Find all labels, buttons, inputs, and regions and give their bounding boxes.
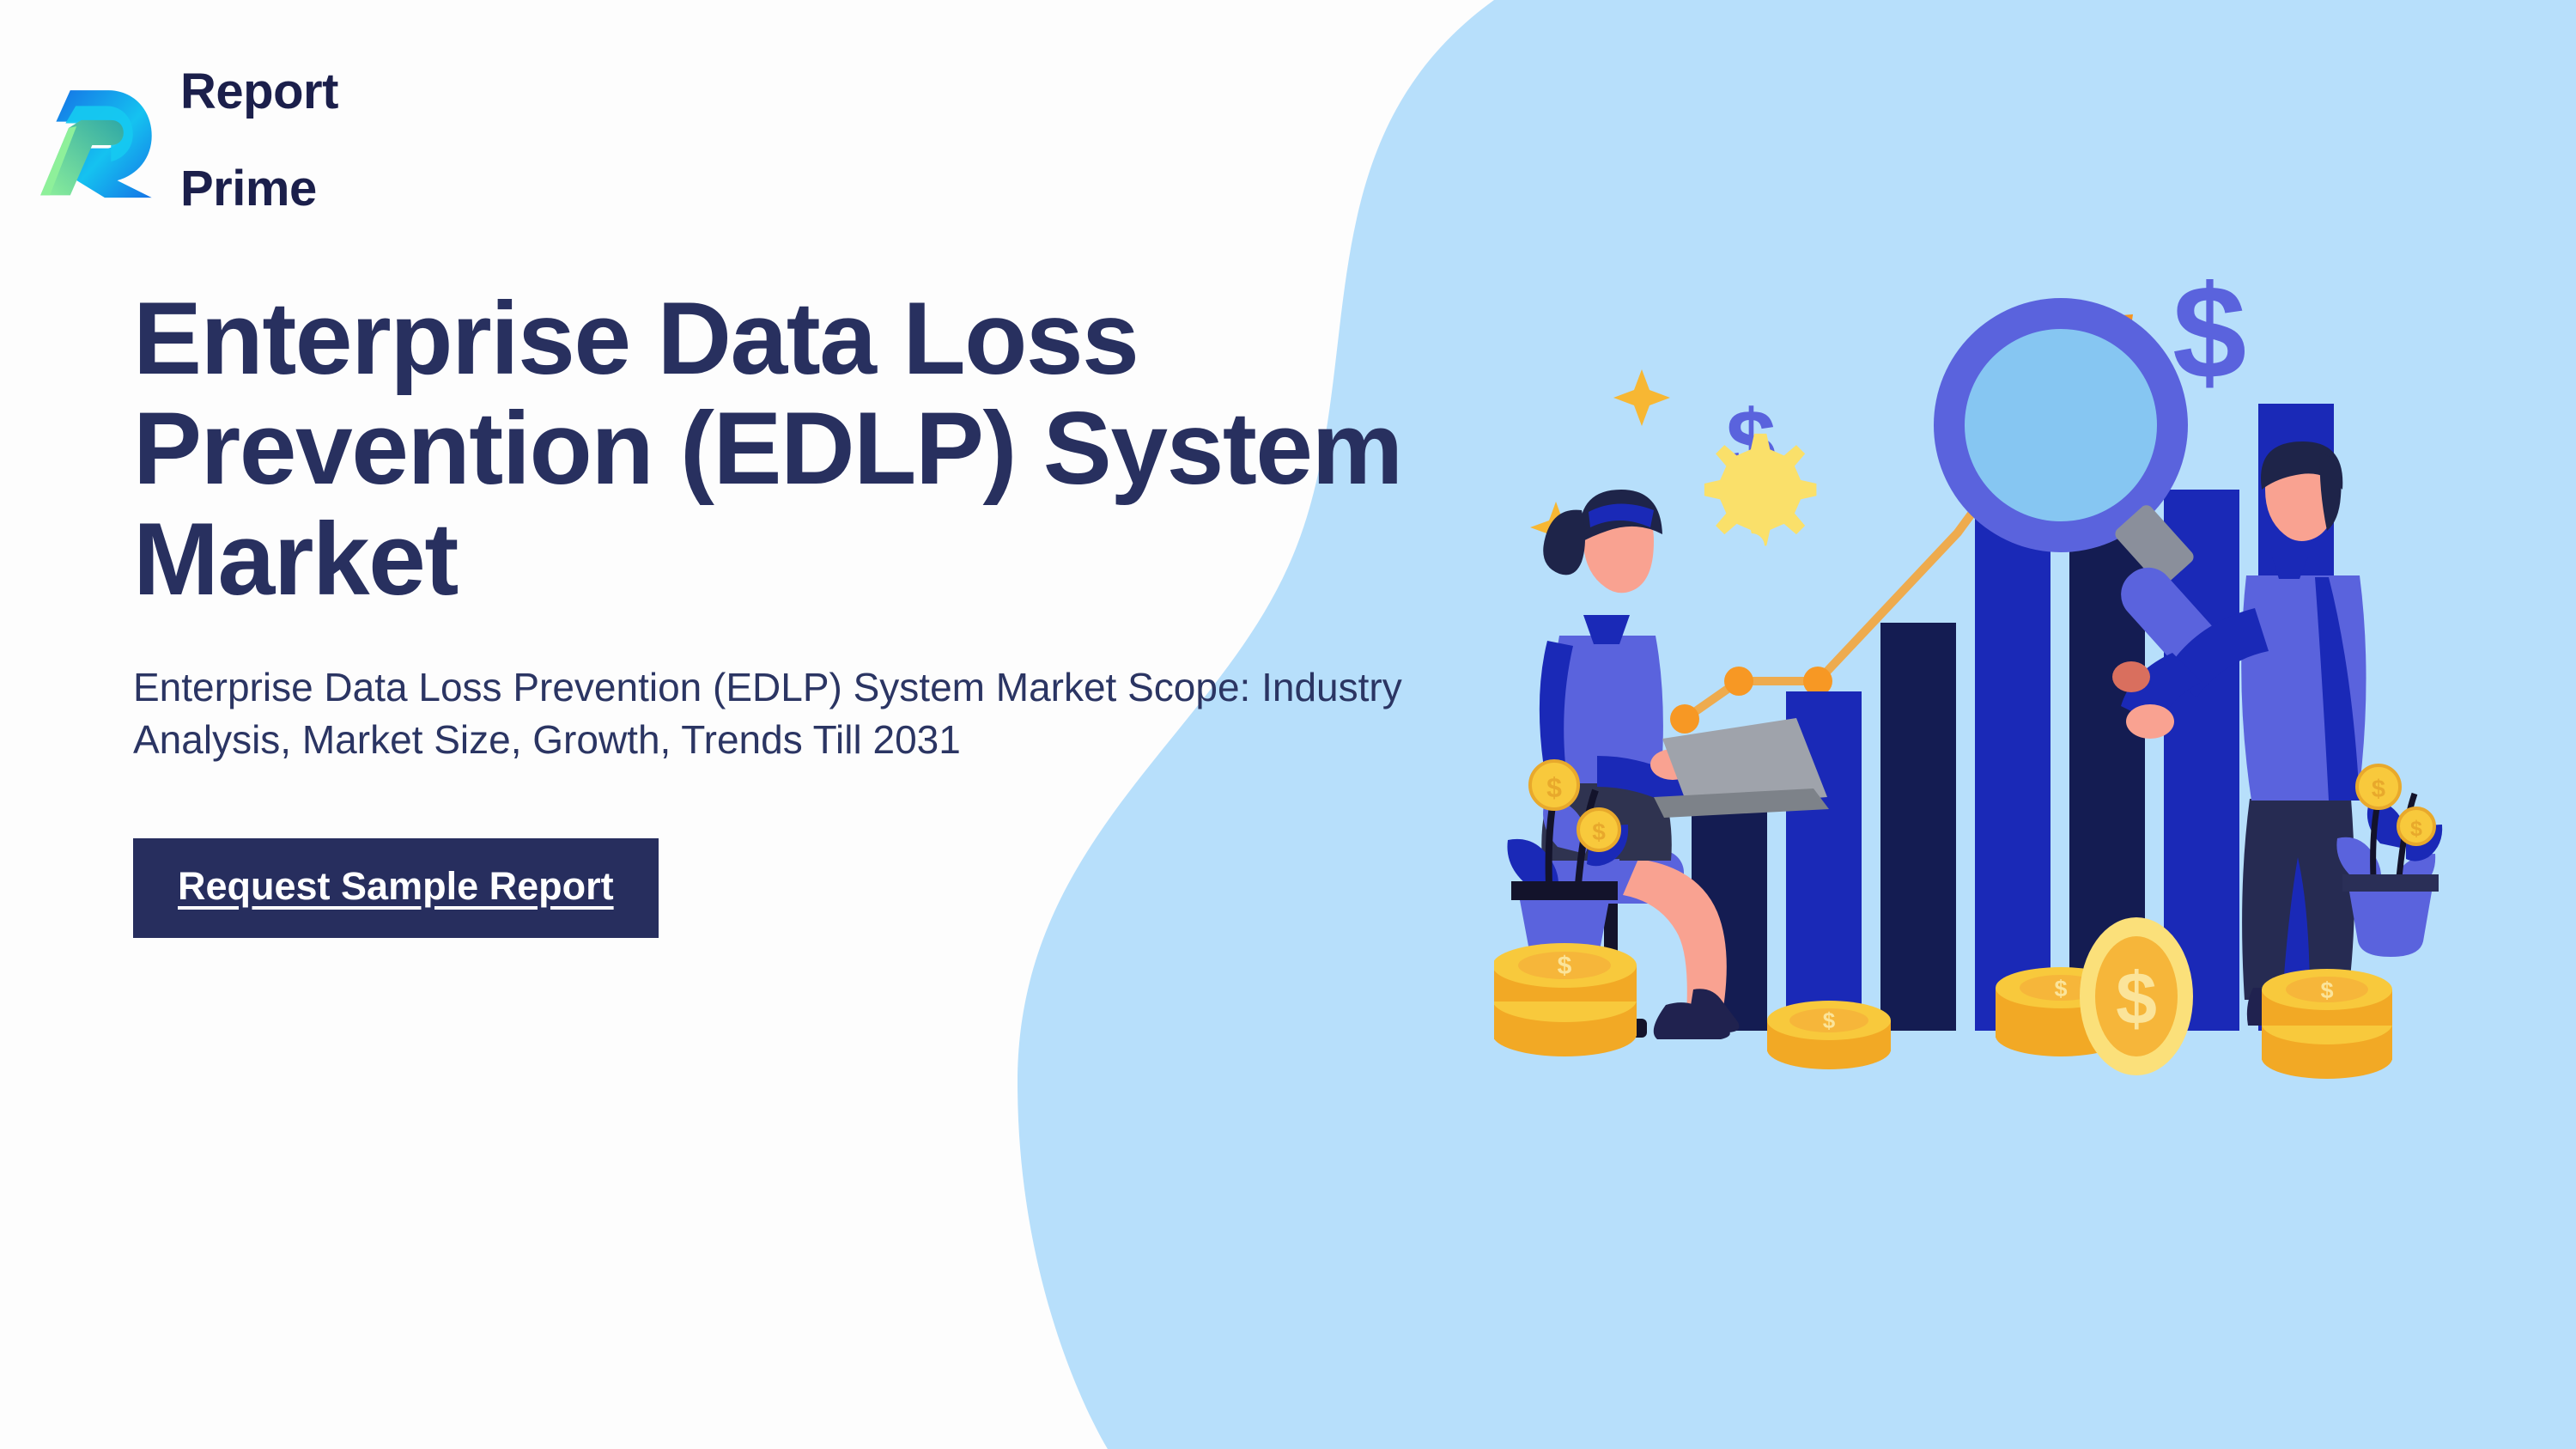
brand-wordmark-line1: Report xyxy=(180,68,338,117)
cta-label: Request Sample Report xyxy=(178,864,614,908)
hero-subtitle: Enterprise Data Loss Prevention (EDLP) S… xyxy=(133,661,1447,765)
coin-stack: $ xyxy=(1494,943,1637,1056)
market-analysis-illustration: $ $ xyxy=(1494,206,2447,1091)
dollar-sign-icon: $ xyxy=(2172,258,2246,406)
page-title: Enterprise Data Loss Prevention (EDLP) S… xyxy=(133,283,1473,614)
coin-stack: $ xyxy=(1767,1001,1891,1069)
svg-text:$: $ xyxy=(2054,976,2067,1002)
svg-text:$: $ xyxy=(2320,977,2333,1003)
report-prime-r-logo-icon xyxy=(33,76,158,206)
request-sample-report-button[interactable]: Request Sample Report xyxy=(133,838,659,938)
svg-text:$: $ xyxy=(1558,952,1572,980)
svg-text:$: $ xyxy=(2372,776,2385,803)
sparkle-icon xyxy=(1613,369,1670,426)
brand-wordmark: Report Prime xyxy=(180,19,338,263)
gear-icon xyxy=(1704,434,1817,559)
coin-stack: $ xyxy=(2262,969,2392,1079)
svg-text:$: $ xyxy=(1546,772,1562,803)
svg-text:$: $ xyxy=(1592,819,1606,845)
svg-text:$: $ xyxy=(1823,1008,1836,1033)
hero-section: Enterprise Data Loss Prevention (EDLP) S… xyxy=(133,283,1524,938)
brand-wordmark-line2: Prime xyxy=(180,165,338,214)
svg-text:$: $ xyxy=(2410,817,2422,841)
brand-logo[interactable]: Report Prime xyxy=(33,19,338,263)
svg-text:$: $ xyxy=(2116,958,2157,1040)
